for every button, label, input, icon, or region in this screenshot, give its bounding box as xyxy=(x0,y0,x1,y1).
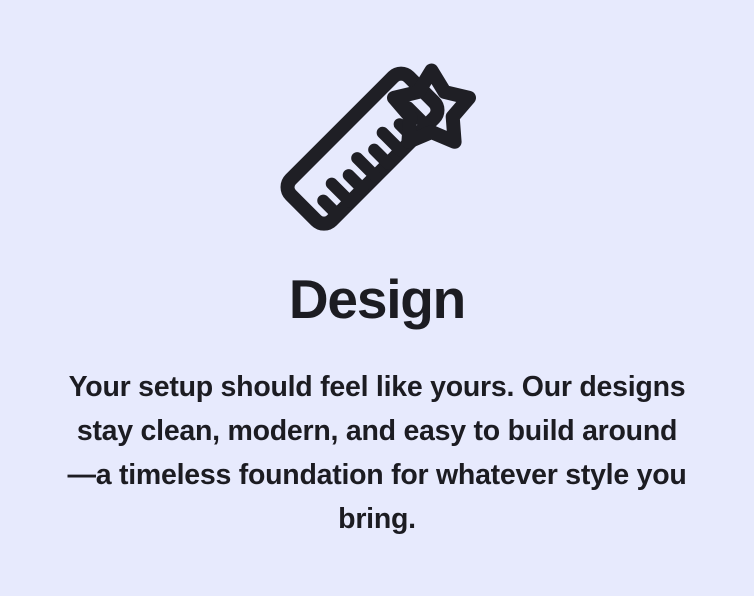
ruler-star-icon xyxy=(277,57,477,253)
page-title: Design xyxy=(289,253,465,327)
design-feature-card: Design Your setup should feel like yours… xyxy=(0,0,754,596)
feature-description: Your setup should feel like yours. Our d… xyxy=(64,327,690,541)
